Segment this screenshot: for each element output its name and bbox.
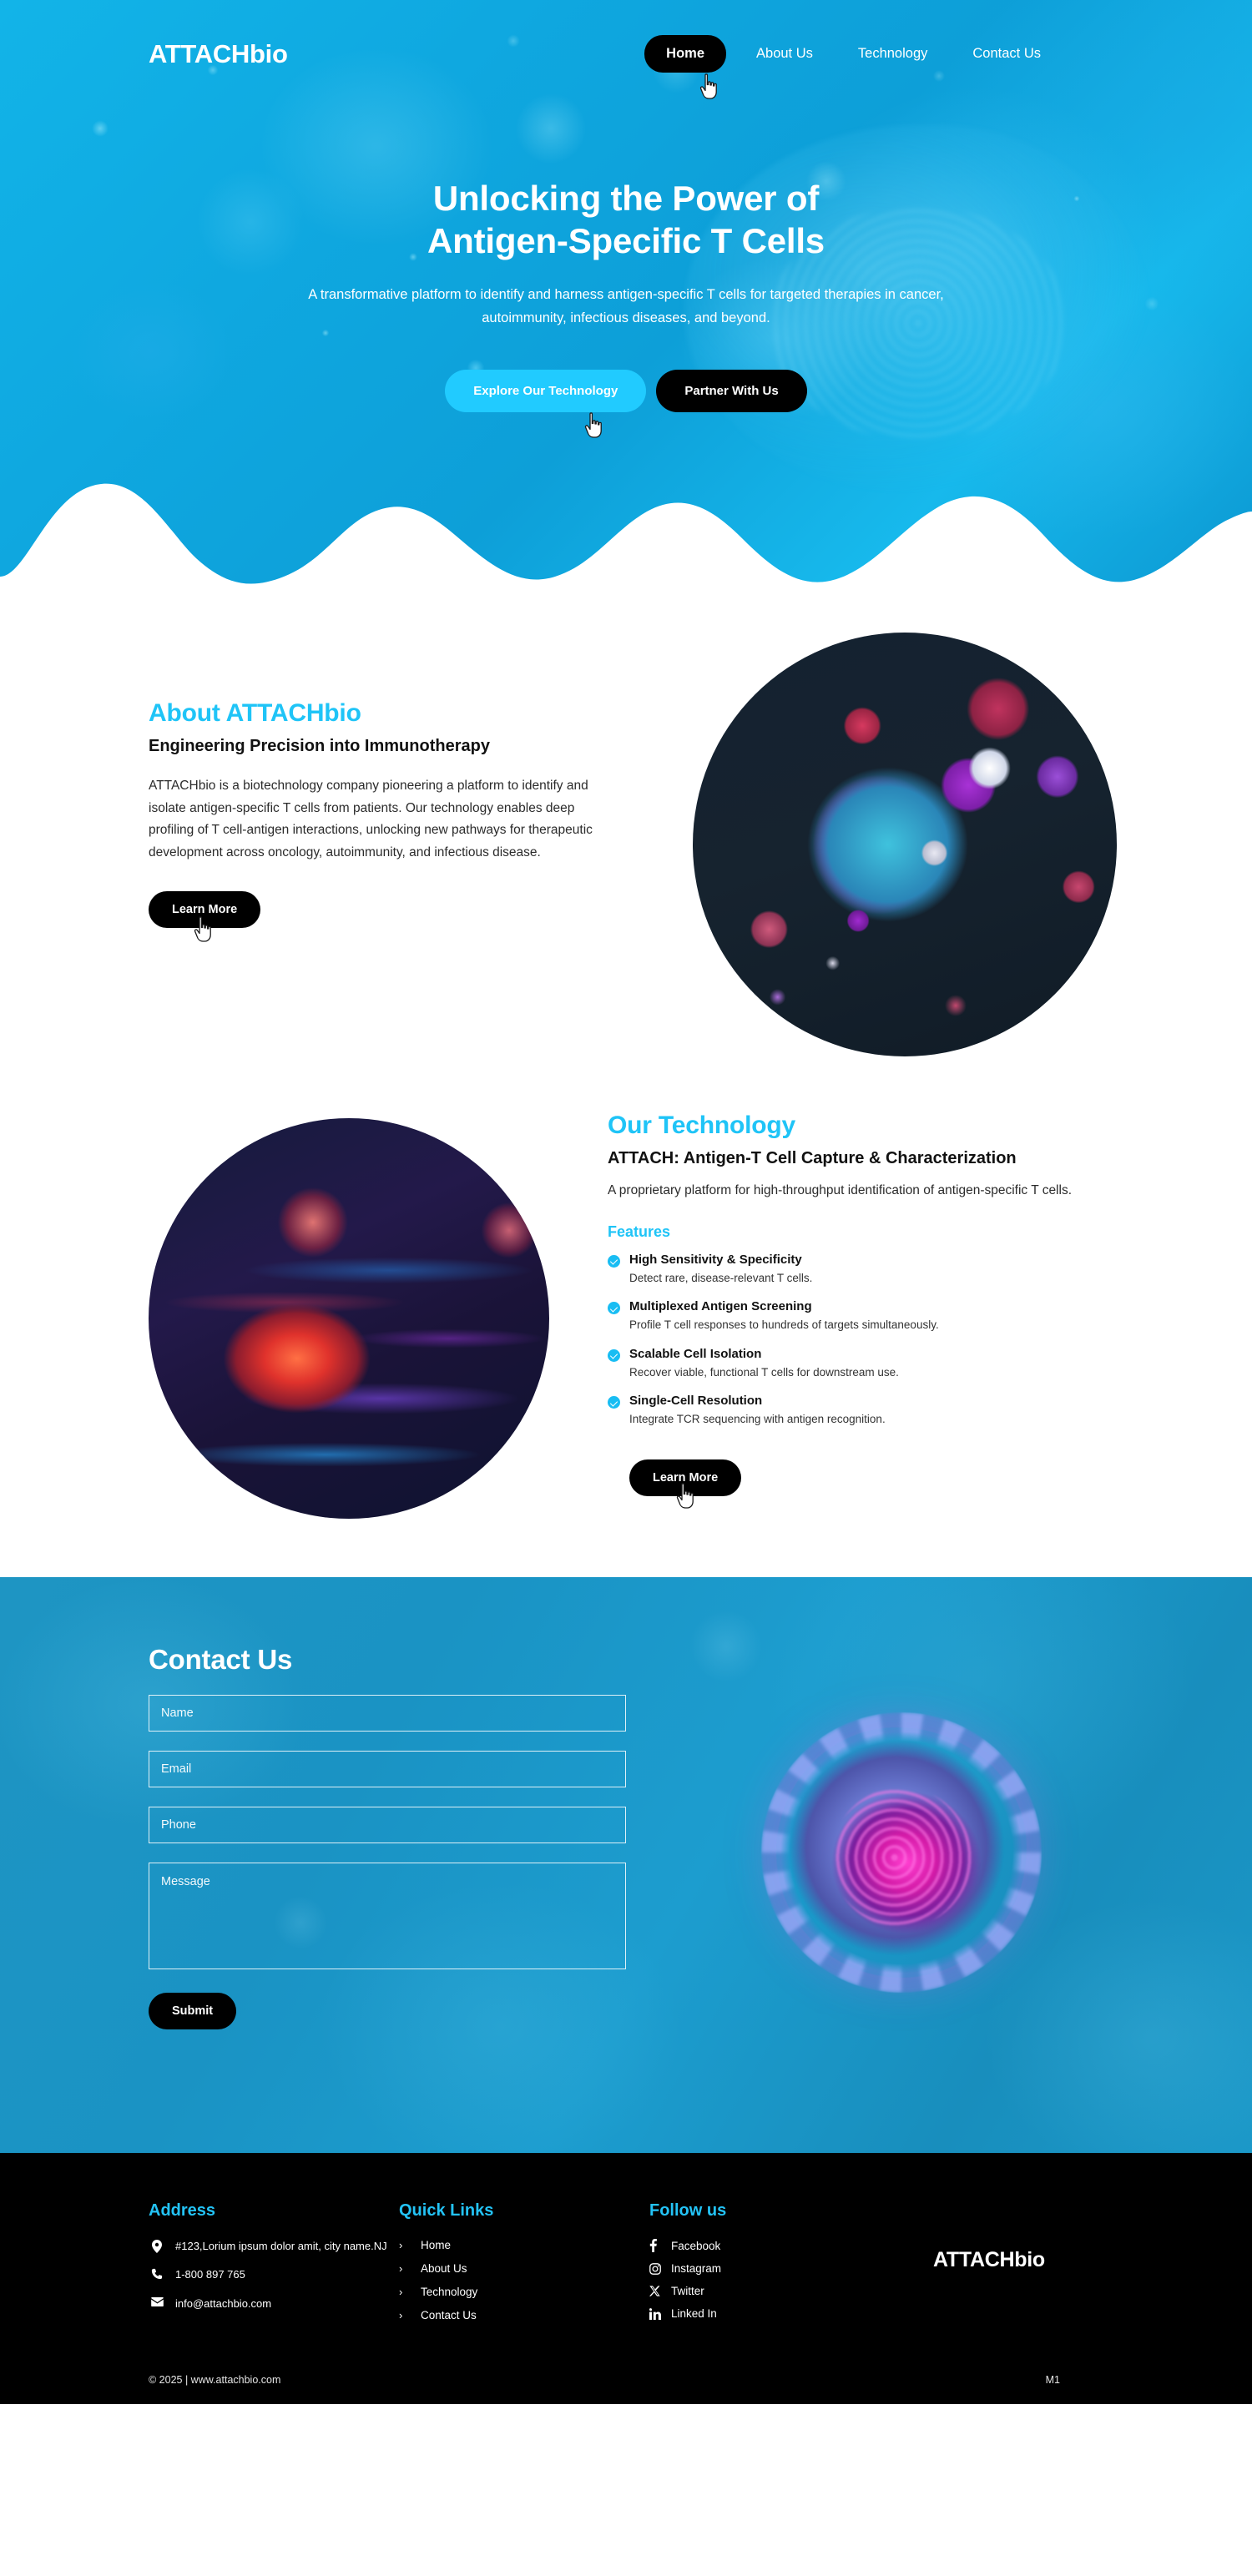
footer-link-label: Contact Us [421,2309,477,2321]
about-body-text: ATTACHbio is a biotechnology company pio… [149,775,616,865]
contact-title: Contact Us [149,1644,733,1676]
footer-link-label: Technology [421,2286,477,2298]
chevron-right-icon: › [399,2286,421,2298]
about-cell-image [693,633,1117,1056]
site-footer: Address #123,Lorium ipsum dolor amit, ci… [0,2153,1252,2404]
footer-columns: Address #123,Lorium ipsum dolor amit, ci… [149,2201,1252,2332]
wave-divider [0,451,1252,584]
about-image-wrap [693,633,1117,1056]
footer-follow-column: Follow us Facebook Instagram [649,2201,900,2332]
nav-item-home[interactable]: Home [644,35,726,73]
footer-link-label: About Us [421,2262,467,2275]
nav-links: Home About Us Technology Contact Us [644,35,1056,73]
footer-logo: ATTACHbio [933,2248,1045,2272]
footer-logo-column: ATTACHbio [900,2201,1252,2332]
footer-social-twitter[interactable]: Twitter [649,2285,900,2297]
chevron-right-icon: › [399,2309,421,2321]
nav-item-contact-us[interactable]: Contact Us [957,36,1056,72]
technology-heading: Our Technology [608,1112,1075,1140]
contact-section: Contact Us Submit [0,1577,1252,2153]
location-pin-icon [149,2239,165,2253]
footer-social-label: Instagram [671,2262,721,2275]
copyright-text: © 2025 | www.attachbio.com [149,2374,280,2386]
linkedin-icon [649,2308,671,2320]
technology-subheading: ATTACH: Antigen-T Cell Capture & Charact… [608,1147,1075,1169]
nav-item-technology[interactable]: Technology [843,36,942,72]
contact-inner: Contact Us Submit [0,1577,1252,2153]
footer-email-text: info@attachbio.com [175,2296,271,2311]
submit-button-wrap: Submit [149,1993,236,2029]
check-circle-icon [608,1349,620,1362]
feature-title: High Sensitivity & Specificity [629,1253,812,1267]
about-text-column: About ATTACHbio Engineering Precision in… [149,624,683,928]
features-list: High Sensitivity & Specificity Detect ra… [608,1253,1075,1428]
hero-buttons: Explore Our Technology Partner With Us [445,370,806,412]
check-circle-icon [608,1396,620,1409]
footer-address-heading: Address [149,2201,399,2221]
footer-follow-heading: Follow us [649,2201,900,2221]
feature-item: Multiplexed Antigen Screening Profile T … [608,1299,1075,1333]
footer-link-contact-us[interactable]: › Contact Us [399,2309,649,2321]
footer-phone-row: 1-800 897 765 [149,2267,399,2282]
footer-link-label: Home [421,2239,451,2251]
feature-item: Single-Cell Resolution Integrate TCR seq… [608,1394,1075,1428]
footer-quick-links-heading: Quick Links [399,2201,649,2221]
twitter-x-icon [649,2286,671,2296]
feature-item: High Sensitivity & Specificity Detect ra… [608,1253,1075,1287]
footer-address-column: Address #123,Lorium ipsum dolor amit, ci… [149,2201,399,2332]
footer-link-technology[interactable]: › Technology [399,2286,649,2298]
technology-button-wrap: Learn More [629,1459,741,1496]
footer-quick-links-column: Quick Links › Home › About Us › Technolo… [399,2201,649,2332]
footer-address-row: #123,Lorium ipsum dolor amit, city name.… [149,2239,399,2254]
feature-description: Recover viable, functional T cells for d… [629,1364,899,1381]
envelope-icon [149,2296,165,2306]
about-heading: About ATTACHbio [149,699,683,728]
message-textarea[interactable] [149,1863,626,1969]
chevron-right-icon: › [399,2262,421,2275]
chevron-right-icon: › [399,2239,421,2251]
technology-text-column: Our Technology ATTACH: Antigen-T Cell Ca… [608,1103,1075,1496]
contact-form-column: Contact Us Submit [149,1577,733,2153]
footer-social-label: Linked In [671,2307,717,2320]
page-mark-label: M1 [1046,2374,1060,2386]
technology-description: A proprietary platform for high-throughp… [608,1181,1075,1202]
feature-description: Detect rare, disease-relevant T cells. [629,1270,812,1287]
footer-address-text: #123,Lorium ipsum dolor amit, city name.… [175,2239,387,2254]
instagram-icon [649,2263,671,2275]
feature-title: Multiplexed Antigen Screening [629,1299,939,1313]
phone-icon [149,2267,165,2280]
feature-description: Profile T cell responses to hundreds of … [629,1317,939,1333]
about-subheading: Engineering Precision into Immunotherapy [149,735,683,757]
hero-subtitle: A transformative platform to identify an… [275,284,977,329]
phone-input[interactable] [149,1807,626,1843]
hero-title-line-1: Unlocking the Power of [433,179,819,218]
explore-our-technology-button[interactable]: Explore Our Technology [445,370,646,412]
feature-description: Integrate TCR sequencing with antigen re… [629,1411,886,1428]
feature-title: Scalable Cell Isolation [629,1347,899,1361]
nav-item-about-us[interactable]: About Us [741,36,828,72]
about-section: About ATTACHbio Engineering Precision in… [0,584,1252,1056]
footer-link-home[interactable]: › Home [399,2239,649,2251]
check-circle-icon [608,1255,620,1268]
name-input[interactable] [149,1695,626,1732]
partner-with-us-button[interactable]: Partner With Us [656,370,806,412]
email-input[interactable] [149,1751,626,1787]
site-logo[interactable]: ATTACHbio [149,39,288,69]
technology-cell-image [149,1118,549,1519]
footer-bottom-bar: © 2025 | www.attachbio.com M1 [0,2374,1252,2404]
features-heading: Features [608,1223,1075,1241]
hero-section: ATTACHbio Home About Us Technology Conta… [0,0,1252,584]
footer-social-label: Twitter [671,2285,704,2297]
facebook-icon [649,2239,671,2252]
technology-image-wrap [149,1118,549,1519]
about-learn-more-button[interactable]: Learn More [149,891,260,928]
footer-social-label: Facebook [671,2240,720,2252]
footer-social-facebook[interactable]: Facebook [649,2239,900,2252]
about-button-wrap: Learn More [149,891,260,928]
technology-section: Our Technology ATTACH: Antigen-T Cell Ca… [0,1103,1252,1577]
hero-title-line-2: Antigen-Specific T Cells [427,221,825,260]
technology-learn-more-button[interactable]: Learn More [629,1459,741,1496]
hero-title: Unlocking the Power of Antigen-Specific … [427,177,825,262]
submit-button[interactable]: Submit [149,1993,236,2029]
footer-social-linkedin[interactable]: Linked In [649,2307,900,2320]
feature-title: Single-Cell Resolution [629,1394,886,1408]
footer-email-row: info@attachbio.com [149,2296,399,2311]
top-navigation: ATTACHbio Home About Us Technology Conta… [0,35,1252,73]
check-circle-icon [608,1302,620,1314]
footer-link-about-us[interactable]: › About Us [399,2262,649,2275]
footer-phone-text: 1-800 897 765 [175,2267,245,2282]
footer-social-instagram[interactable]: Instagram [649,2262,900,2275]
landing-page: ATTACHbio Home About Us Technology Conta… [0,0,1252,2576]
feature-item: Scalable Cell Isolation Recover viable, … [608,1347,1075,1381]
